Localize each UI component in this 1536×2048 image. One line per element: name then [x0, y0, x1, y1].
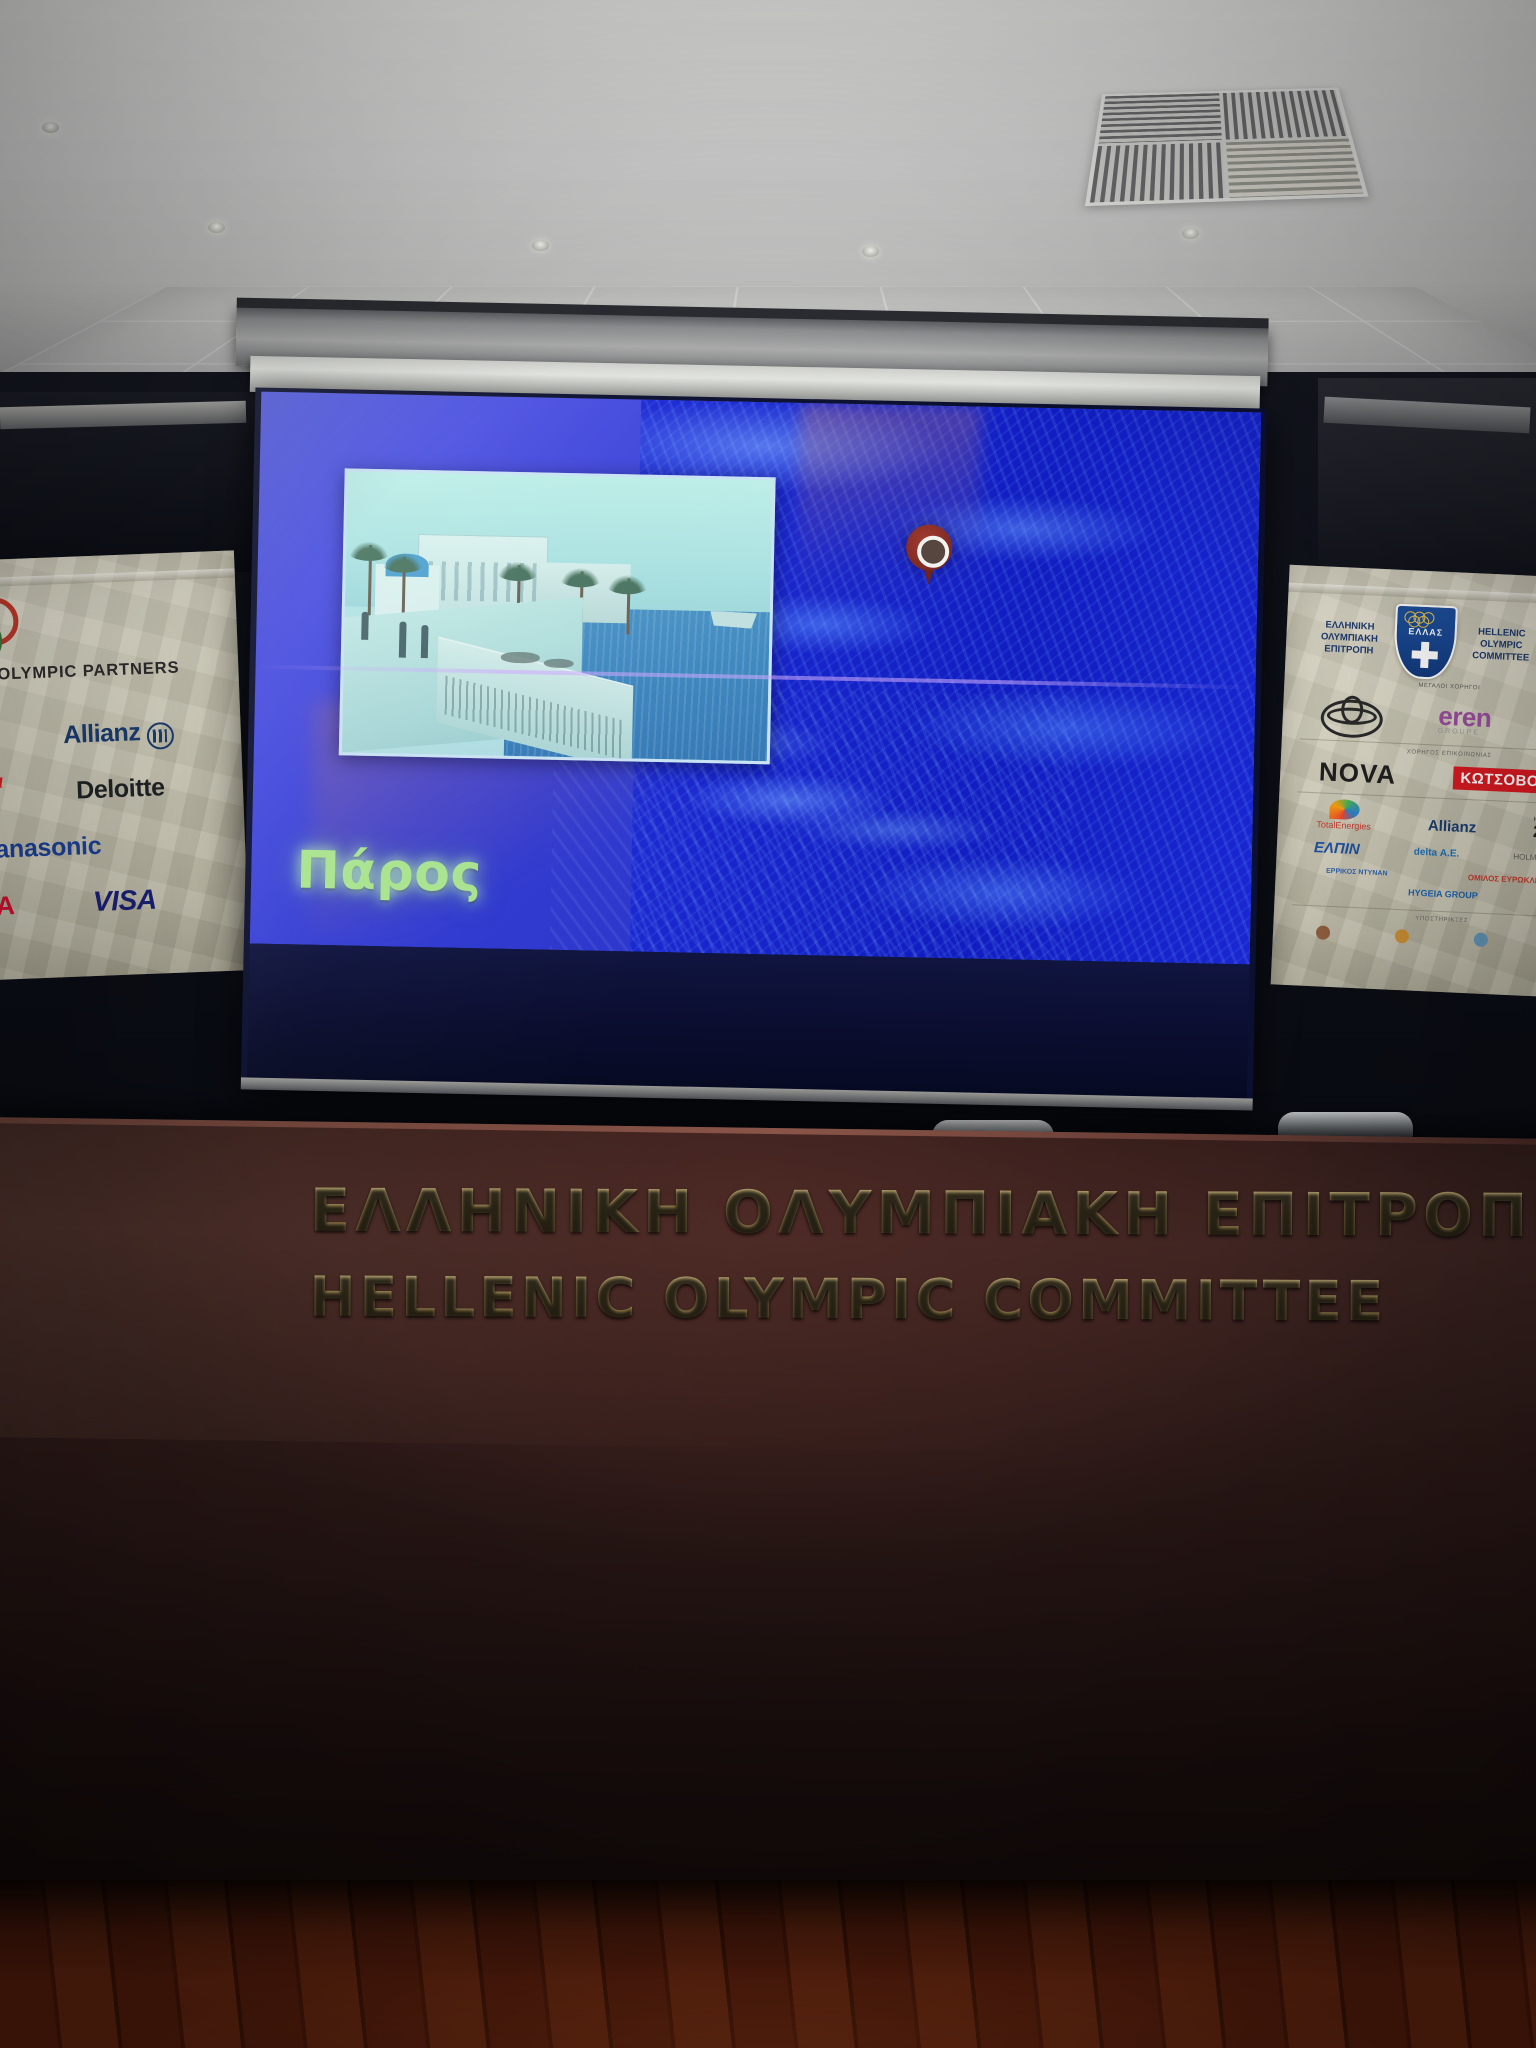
- worldwide-olympic-partners-banner: WORLDWIDE OLYMPIC PARTNERS Alibaba Allia…: [0, 550, 250, 981]
- allianz-mark-icon: [146, 721, 174, 749]
- totalenergies-mark-icon: [1329, 799, 1360, 820]
- banner-seam: [0, 568, 235, 589]
- visa-logo: VISA: [92, 884, 157, 918]
- hoc-masthead: ΕΛΛΗΝΙΚΗ ΟΛΥΜΠΙΑΚΗ ΕΠΙΤΡΟΠΗ ΕΛΛΑΣ HELLEN…: [1309, 600, 1536, 687]
- totalenergies-logo: TotalEnergies: [1316, 819, 1371, 831]
- coca-cola-logo: Coca-Cola: [0, 767, 4, 797]
- deloitte-logo: Deloitte: [76, 773, 166, 805]
- shield-rings-icon: [1404, 611, 1448, 625]
- downlight-icon: [532, 240, 549, 251]
- chair-headrest: [1278, 1112, 1413, 1138]
- podium-desk: ΕΛΛΗΝΙΚΗ ΟΛΥΜΠΙΑΚΗ ΕΠΙΤΡΟΠΗ HELLENIC OLY…: [0, 1117, 1536, 1919]
- photo-color-tint: [342, 471, 773, 761]
- hvac-vent-icon: [1085, 88, 1369, 207]
- olympic-rings-icon: [0, 596, 43, 653]
- downlight-icon: [1182, 228, 1199, 239]
- hellenic-olympic-committee-banner: ΕΛΛΗΝΙΚΗ ΟΛΥΜΠΙΑΚΗ ΕΠΙΤΡΟΠΗ ΕΛΛΑΣ HELLEN…: [1271, 565, 1536, 1000]
- downlight-icon: [42, 122, 59, 133]
- hoc-shield-icon: ΕΛΛΑΣ: [1393, 604, 1458, 681]
- sponsor-row: HYGEIA GROUP: [1285, 882, 1536, 906]
- supporter-badge-row: [1283, 924, 1536, 952]
- sponsor-row: ΕΛΠΙΝ delta Α.Ε. HOLMES PLACE: [1287, 838, 1536, 869]
- hoc-name-english: HELLENIC OLYMPIC COMMITTEE: [1461, 626, 1536, 665]
- right-wall-panel: [1318, 378, 1536, 588]
- sponsor-row: TotalEnergies Allianz HERBALIFE 24: [1288, 797, 1536, 842]
- euroclinic-logo: ΟΜΙΛΟΣ ΕΥΡΩΚΛΙΝΙΚΗΣ: [1468, 873, 1536, 886]
- kotsovolos-logo: ΚΩΤΣΟΒΟΛΟΣ: [1453, 766, 1536, 795]
- supporter-badge-icon: [1394, 929, 1409, 944]
- shield-ellas-text: ΕΛΛΑΣ: [1397, 626, 1455, 639]
- projector-screen: Πάρος: [241, 387, 1267, 1108]
- downlight-icon: [862, 246, 879, 257]
- paros-photo-inset: [339, 468, 776, 764]
- presentation-slide: Πάρος: [250, 392, 1261, 965]
- herbalife-24: 24: [1533, 822, 1536, 842]
- eren-logo: eren GROUPE: [1438, 705, 1492, 737]
- delta-logo: delta Α.Ε.: [1414, 847, 1460, 860]
- hygeia-group-logo: HYGEIA GROUP: [1408, 887, 1478, 900]
- photo-scene: WORLDWIDE OLYMPIC PARTNERS Alibaba Allia…: [0, 0, 1536, 2048]
- elpin-logo: ΕΛΠΙΝ: [1314, 839, 1361, 858]
- supporter-badge-icon: [1315, 925, 1330, 940]
- podium-title-greek: ΕΛΛΗΝΙΚΗ ΟΛΥΜΠΙΑΚΗ ΕΠΙΤΡΟΠΗ: [310, 1176, 1536, 1250]
- holmes-place-logo: HOLMES PLACE: [1513, 852, 1536, 864]
- toyota-logo: TOYOTA: [0, 890, 16, 925]
- toyota-mark-icon: [1320, 694, 1384, 737]
- allianz-logo-small: Allianz: [1428, 817, 1477, 836]
- errikos-dynan-logo: ΕΡΡΙΚΟΣ ΝΤΥΝΑΝ: [1326, 867, 1388, 877]
- wall-trim-strip: [1323, 397, 1530, 434]
- allianz-logo: Allianz: [63, 718, 141, 750]
- sponsor-row: Together: [0, 926, 210, 981]
- hoc-sponsor-grid: eren GROUPE 4P ΧΟΡΗΓΟΣ ΕΠΙΚΟΙΝΩΝΙΑΣ NOVA…: [1283, 693, 1536, 952]
- podium-title-english: HELLENIC OLYMPIC COMMITTEE: [309, 1265, 1536, 1334]
- banner-heading: WORLDWIDE OLYMPIC PARTNERS: [0, 658, 199, 689]
- location-pin-icon: [905, 524, 952, 587]
- slide-title: Πάρος: [296, 840, 483, 904]
- greek-cross-icon: [1395, 640, 1454, 673]
- downlight-icon: [208, 222, 225, 233]
- supporter-badge-icon: [1473, 932, 1488, 947]
- sponsor-logo-grid: Alibaba Allianz Coca-Cola 蒙牛 Deloitte Pa…: [0, 702, 210, 980]
- nova-logo: NOVA: [1318, 756, 1397, 790]
- podium-signage: ΕΛΛΗΝΙΚΗ ΟΛΥΜΠΙΑΚΗ ΕΠΙΤΡΟΠΗ HELLENIC OLY…: [309, 1176, 1536, 1334]
- wooden-floor: [0, 1880, 1536, 2048]
- panasonic-logo: Panasonic: [0, 831, 102, 865]
- projector-color-wash: [797, 403, 981, 605]
- hoc-name-greek: ΕΛΛΗΝΙΚΗ ΟΛΥΜΠΙΑΚΗ ΕΠΙΤΡΟΠΗ: [1310, 619, 1390, 658]
